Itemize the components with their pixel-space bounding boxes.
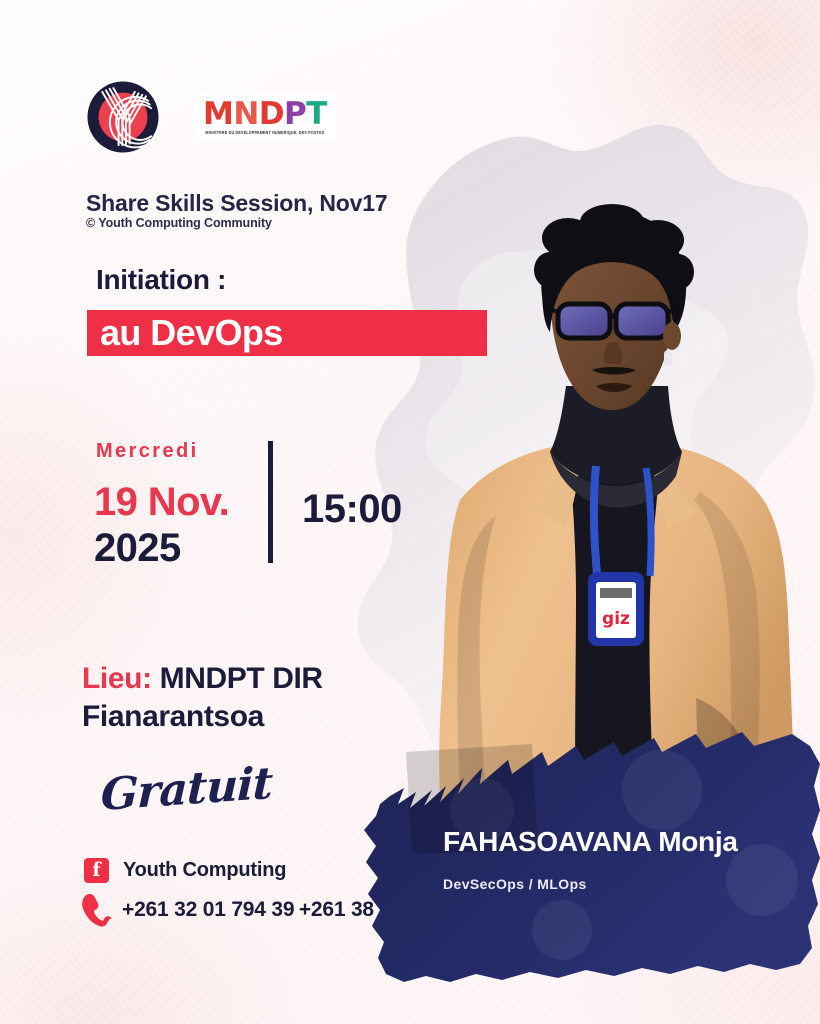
speaker-banner	[362, 730, 820, 992]
event-day-month: 19 Nov.	[94, 480, 229, 525]
session-title: Share Skills Session, Nov17	[86, 190, 387, 217]
speaker-name: FAHASOAVANA Monja	[443, 826, 738, 858]
event-weekday: Mercredi	[96, 440, 199, 463]
facebook-handle: Youth Computing	[123, 859, 286, 882]
venue-line-1: Lieu: MNDPT DIR	[82, 662, 323, 696]
facebook-contact[interactable]: Youth Computing	[84, 858, 286, 883]
youth-computing-logo-icon	[86, 80, 160, 154]
event-year: 2025	[94, 526, 181, 571]
ministry-logo-wordmark: MNDPT	[203, 99, 327, 130]
schedule-divider	[268, 441, 273, 563]
topic-title: au DevOps	[100, 312, 480, 354]
ministry-logo: MNDPT MINISTERE DU DEVELOPPEMENT NUMERIQ…	[194, 94, 336, 140]
venue-name: MNDPT DIR	[160, 662, 323, 695]
svg-text:giz: giz	[602, 609, 630, 629]
venue-label: Lieu:	[82, 662, 152, 695]
organizer-credit: © Youth Computing Community	[86, 216, 272, 230]
speaker-role: DevSecOps / MLOps	[443, 876, 587, 892]
topic-kicker: Initiation :	[96, 264, 226, 296]
phone-number: +261 32 01 794 39	[122, 898, 294, 921]
facebook-icon	[84, 858, 109, 883]
phone-icon	[80, 892, 112, 928]
venue-line-2: Fianarantsoa	[82, 700, 264, 734]
event-time: 15:00	[302, 487, 402, 532]
logo-row: MNDPT MINISTERE DU DEVELOPPEMENT NUMERIQ…	[86, 80, 336, 154]
event-poster: giz	[0, 0, 820, 1024]
ministry-logo-subtitle: MINISTERE DU DEVELOPPEMENT NUMERIQUE, DE…	[206, 132, 325, 136]
